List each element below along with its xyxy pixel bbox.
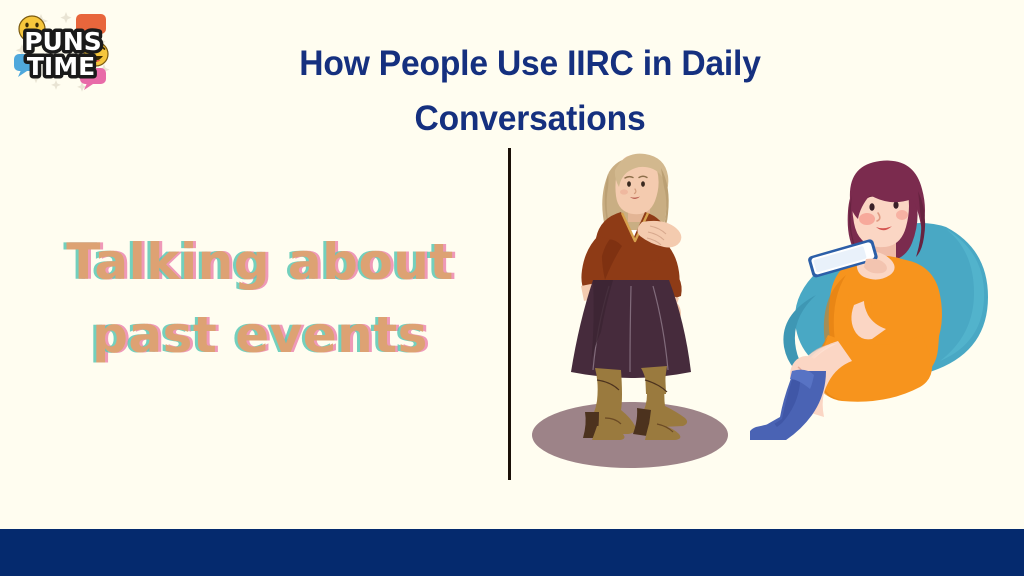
vertical-divider xyxy=(508,148,511,480)
standing-woman-illustration xyxy=(523,140,753,470)
ground-shadow xyxy=(532,402,728,468)
seated-woman-illustration xyxy=(750,155,995,440)
slide-canvas: PUNS PUNS TIME TIME How People Use IIRC … xyxy=(0,0,1024,576)
puns-time-logo[interactable]: PUNS PUNS TIME TIME xyxy=(8,6,120,94)
logo-wordmark: PUNS PUNS TIME TIME xyxy=(24,27,102,81)
logo-line2: TIME xyxy=(27,52,95,81)
headline-text: Talking about past events xyxy=(40,226,480,372)
page-title: How People Use IIRC in Daily Conversatio… xyxy=(204,36,857,147)
footer-bar xyxy=(0,529,1024,576)
